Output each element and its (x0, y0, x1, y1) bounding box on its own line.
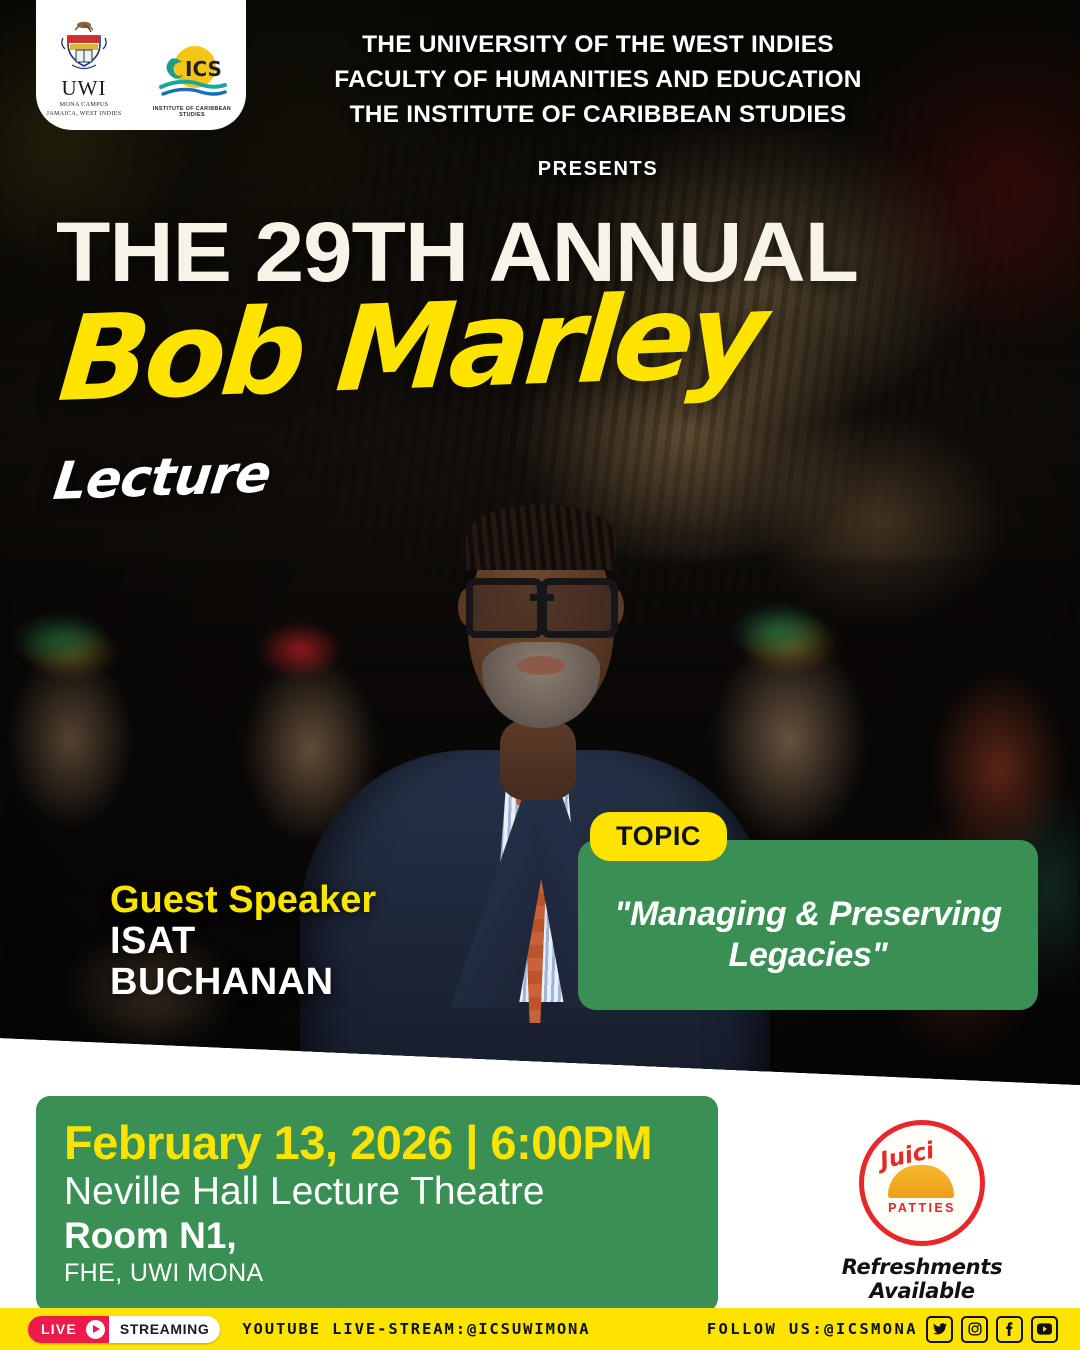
uwi-wordmark: UWI (38, 78, 130, 99)
facebook-icon[interactable] (996, 1316, 1023, 1343)
topic-title: "Managing & Preserving Legacies" (602, 894, 1014, 976)
topic-card: "Managing & Preserving Legacies" (578, 840, 1038, 1010)
lips (517, 656, 565, 675)
follow-us-handle: FOLLOW US:@ICSMONA (707, 1320, 918, 1338)
guest-speaker-label: Guest Speaker (110, 880, 376, 921)
twitter-icon[interactable] (926, 1316, 953, 1343)
poster-root: UWI MONA CAMPUS JAMAICA, WEST INDIES ICS… (0, 0, 1080, 1350)
guest-speaker-first-name: ISAT (110, 921, 376, 962)
org-line-faculty: FACULTY OF HUMANITIES AND EDUCATION (248, 63, 948, 98)
event-date-time: February 13, 2026 | 6:00PM (64, 1118, 690, 1168)
org-line-university: THE UNIVERSITY OF THE WEST INDIES (248, 28, 948, 63)
youtube-icon[interactable] (1031, 1316, 1058, 1343)
footer-bar: LIVE STREAMING YOUTUBE LIVE-STREAM:@ICSU… (0, 1308, 1080, 1350)
organization-heading: THE UNIVERSITY OF THE WEST INDIES FACULT… (248, 28, 948, 132)
uwi-sub-line-1: MONA CAMPUS (38, 101, 130, 109)
streaming-label: STREAMING (109, 1321, 220, 1337)
patties-wordmark: PATTIES (864, 1201, 980, 1215)
event-venue: Neville Hall Lecture Theatre (64, 1170, 690, 1215)
ics-mark-icon: ICS (155, 43, 229, 103)
uwi-crest-icon (55, 20, 113, 76)
presents-label: PRESENTS (248, 158, 948, 181)
event-room: Room N1, (64, 1215, 690, 1256)
follow-us-group: FOLLOW US:@ICSMONA (707, 1316, 1058, 1343)
event-details-card: February 13, 2026 | 6:00PM Neville Hall … (36, 1096, 718, 1312)
institution-logo-card: UWI MONA CAMPUS JAMAICA, WEST INDIES ICS… (36, 0, 246, 130)
lens-right (540, 578, 618, 638)
refreshments-caption: Refreshments Available (812, 1255, 1032, 1303)
ics-logo: ICS INSTITUTE OF CARIBBEAN STUDIES (140, 43, 244, 118)
youtube-livestream-handle[interactable]: YOUTUBE LIVE-STREAM:@ICSUWIMONA (242, 1320, 590, 1338)
lens-left (466, 578, 544, 638)
svg-text:ICS: ICS (185, 57, 222, 81)
live-label: LIVE (28, 1316, 86, 1343)
guest-speaker-last-name: BUCHANAN (110, 962, 376, 1003)
beard (482, 642, 600, 728)
title-bob-marley: Bob Marley (55, 276, 767, 418)
event-faculty-campus: FHE, UWI MONA (64, 1258, 690, 1288)
topic-block: TOPIC "Managing & Preserving Legacies" (578, 840, 1038, 1010)
guest-speaker-block: Guest Speaker ISAT BUCHANAN (110, 880, 376, 1003)
instagram-icon[interactable] (961, 1316, 988, 1343)
neck (500, 720, 576, 800)
play-icon (86, 1316, 109, 1343)
uwi-sub-line-2: JAMAICA, WEST INDIES (38, 110, 130, 118)
hair (466, 504, 616, 570)
topic-pill-badge: TOPIC (590, 812, 727, 861)
ics-sub-label: INSTITUTE OF CARIBBEAN STUDIES (140, 106, 244, 118)
title-lecture: Lecture (50, 445, 273, 512)
uwi-logo: UWI MONA CAMPUS JAMAICA, WEST INDIES (38, 20, 130, 119)
eyeglasses-icon (466, 578, 618, 624)
live-streaming-badge[interactable]: LIVE STREAMING (28, 1316, 220, 1343)
juici-patties-logo-icon: Juici PATTIES (859, 1120, 985, 1246)
sponsor-block: Juici PATTIES Refreshments Available (812, 1120, 1032, 1303)
org-line-institute: THE INSTITUTE OF CARIBBEAN STUDIES (248, 98, 948, 133)
